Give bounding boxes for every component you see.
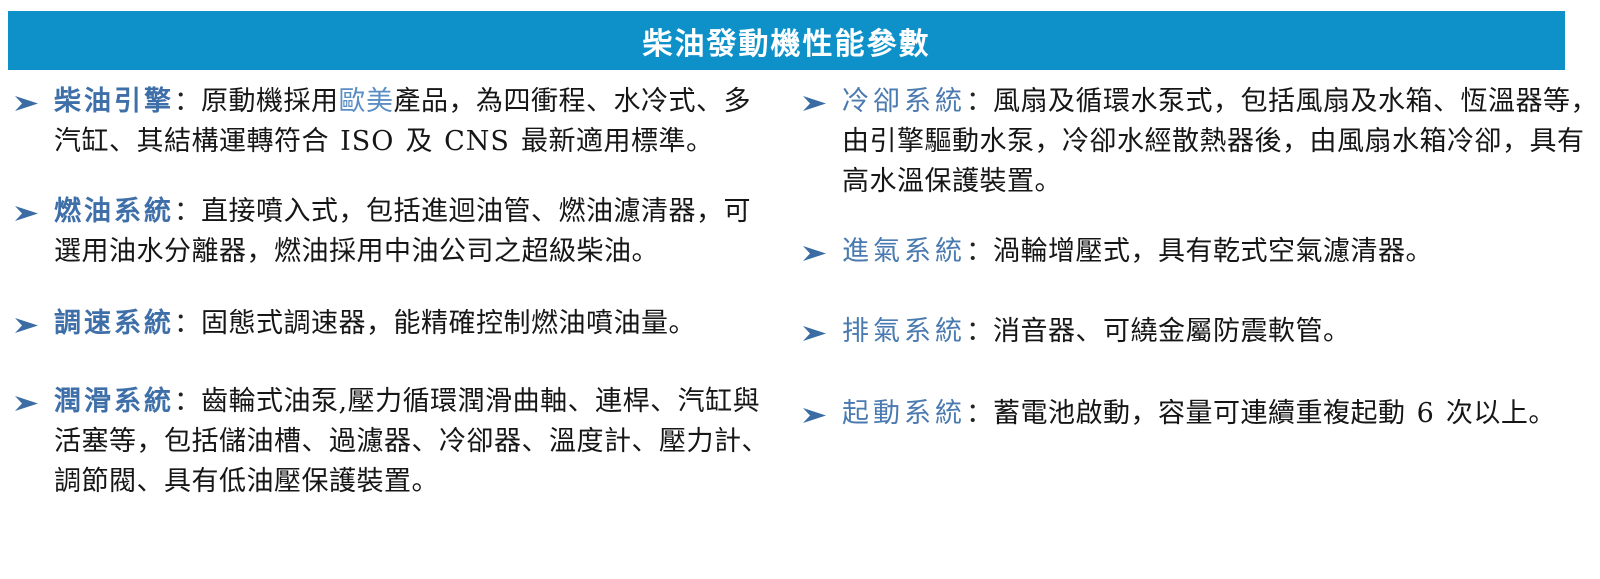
restart-count: 6 <box>1415 398 1437 429</box>
content-columns: 柴油引擎：原動機採用歐美產品，為四衝程、水冷式、多汽缸、其結構運轉符合 ISO … <box>0 74 1600 579</box>
title-colon: ： <box>966 86 993 117</box>
arrow-head-icon <box>794 312 842 342</box>
system-title: 進氣系統 <box>842 236 966 267</box>
system-title: 冷卻系統 <box>842 86 966 117</box>
bullet-text-lubrication-system: 潤滑系統：齒輪式油泵,壓力循環潤滑曲軸、連桿、汽缸與活塞等，包括儲油槽、過濾器、… <box>54 382 776 502</box>
standard-cns: CNS <box>442 126 512 157</box>
title-colon: ： <box>174 308 201 339</box>
system-title: 調速系統 <box>54 308 174 339</box>
bullet-text-starting-system: 起動系統：蓄電池啟動，容量可連續重複起動 6 次以上。 <box>842 394 1600 434</box>
body-text-part3: 及 <box>396 126 442 157</box>
page-title: 柴油發動機性能參數 <box>643 19 931 63</box>
arrow-head-icon <box>794 82 842 112</box>
system-title: 起動系統 <box>842 398 966 429</box>
bullet-item-cooling-system: 冷卻系統：風扇及循環水泵式，包括風扇及水箱、恆溫器等，由引擎驅動水泵，冷卻水經散… <box>794 82 1600 202</box>
bullet-text-exhaust-system: 排氣系統：消音器、可繞金屬防震軟管。 <box>842 312 1600 352</box>
arrow-head-icon <box>794 232 842 262</box>
body-text-part4: 最新適用標準。 <box>512 126 714 157</box>
system-title: 排氣系統 <box>842 316 966 347</box>
title-colon: ： <box>966 316 993 347</box>
title-colon: ： <box>174 196 201 227</box>
body-text-part1: 原動機採用 <box>201 86 339 117</box>
body-text: 消音器、可繞金屬防震軟管。 <box>993 316 1351 347</box>
standard-iso: ISO <box>338 126 396 157</box>
bullet-item-fuel-system: 燃油系統：直接噴入式，包括進迴油管、燃油濾清器，可選用油水分離器，燃油採用中油公… <box>6 192 776 272</box>
bullet-item-exhaust-system: 排氣系統：消音器、可繞金屬防震軟管。 <box>794 312 1600 352</box>
title-colon: ： <box>966 398 993 429</box>
bullet-text-cooling-system: 冷卻系統：風扇及循環水泵式，包括風扇及水箱、恆溫器等，由引擎驅動水泵，冷卻水經散… <box>842 82 1600 202</box>
bullet-item-intake-system: 進氣系統：渦輪增壓式，具有乾式空氣濾清器。 <box>794 232 1600 272</box>
bullet-item-diesel-engine: 柴油引擎：原動機採用歐美產品，為四衝程、水冷式、多汽缸、其結構運轉符合 ISO … <box>6 82 776 162</box>
bullet-text-diesel-engine: 柴油引擎：原動機採用歐美產品，為四衝程、水冷式、多汽缸、其結構運轉符合 ISO … <box>54 82 776 162</box>
system-title: 潤滑系統 <box>54 386 174 417</box>
system-title: 燃油系統 <box>54 196 174 227</box>
right-column: 冷卻系統：風扇及循環水泵式，包括風扇及水箱、恆溫器等，由引擎驅動水泵，冷卻水經散… <box>790 74 1600 434</box>
title-colon: ： <box>966 236 993 267</box>
bullet-text-fuel-system: 燃油系統：直接噴入式，包括進迴油管、燃油濾清器，可選用油水分離器，燃油採用中油公… <box>54 192 776 272</box>
system-title: 柴油引擎 <box>54 86 174 117</box>
bullet-text-governor-system: 調速系統：固態式調速器，能精確控制燃油噴油量。 <box>54 304 776 344</box>
arrow-head-icon <box>6 382 54 412</box>
bullet-item-governor-system: 調速系統：固態式調速器，能精確控制燃油噴油量。 <box>6 304 776 344</box>
bullet-item-lubrication-system: 潤滑系統：齒輪式油泵,壓力循環潤滑曲軸、連桿、汽缸與活塞等，包括儲油槽、過濾器、… <box>6 382 776 502</box>
body-text: 渦輪增壓式，具有乾式空氣濾清器。 <box>993 236 1433 267</box>
bullet-text-intake-system: 進氣系統：渦輪增壓式，具有乾式空氣濾清器。 <box>842 232 1600 272</box>
body-text-part2: 次以上。 <box>1437 398 1556 429</box>
arrow-head-icon <box>6 192 54 222</box>
body-text: 固態式調速器，能精確控制燃油噴油量。 <box>201 308 696 339</box>
arrow-head-icon <box>6 304 54 334</box>
arrow-head-icon <box>794 394 842 424</box>
emphasis-text: 歐美 <box>339 86 394 117</box>
bullet-item-starting-system: 起動系統：蓄電池啟動，容量可連續重複起動 6 次以上。 <box>794 394 1600 434</box>
page-title-banner: 柴油發動機性能參數 <box>8 11 1565 70</box>
body-text-part1: 蓄電池啟動，容量可連續重複起動 <box>993 398 1415 429</box>
arrow-head-icon <box>6 82 54 112</box>
title-colon: ： <box>174 386 201 417</box>
left-column: 柴油引擎：原動機採用歐美產品，為四衝程、水冷式、多汽缸、其結構運轉符合 ISO … <box>0 74 790 502</box>
title-colon: ： <box>174 86 201 117</box>
